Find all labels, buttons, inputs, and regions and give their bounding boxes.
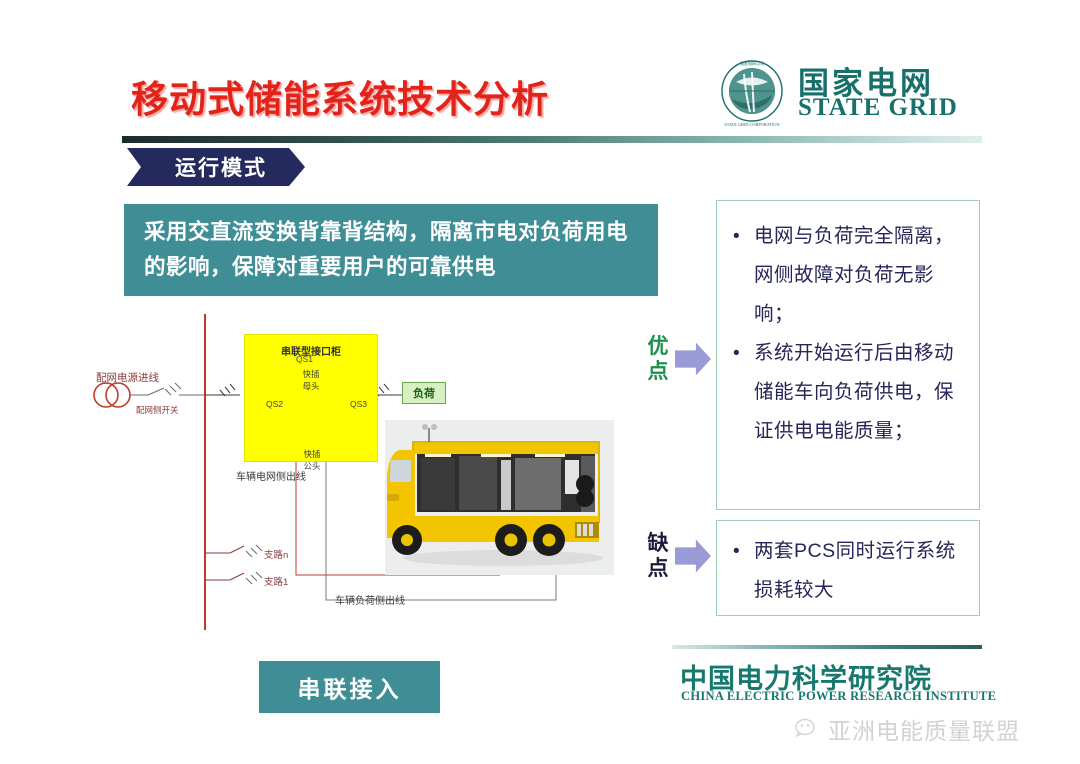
load-node: 负荷	[402, 382, 446, 404]
load-label: 负荷	[413, 385, 435, 401]
list-item: 电网与负荷完全隔离，网侧故障对负荷无影响；	[727, 217, 971, 334]
diagram-caption-label: 串联接入	[298, 670, 402, 704]
label-qs3: QS3	[350, 399, 367, 409]
state-grid-globe-icon: 国家电网公司 STATE GRID CORPORATION	[716, 58, 788, 128]
wechat-icon	[795, 718, 821, 740]
pros-marker: 优点	[645, 334, 711, 384]
label-vehicle-grid-outlet: 车辆电网侧出线	[236, 468, 306, 483]
label-grid-switch: 配网侧开关	[136, 404, 179, 416]
label-female-connector-line2: 母头	[291, 380, 331, 392]
page-title: 移动式储能系统技术分析	[131, 69, 549, 123]
svg-text:国家电网公司: 国家电网公司	[740, 60, 764, 66]
watermark-text: 亚洲电能质量联盟	[828, 712, 1020, 746]
wechat-watermark: 亚洲电能质量联盟	[795, 712, 1020, 746]
slide-header: 移动式储能系统技术分析 国家电网公司 STATE GRID CORPORATIO…	[0, 0, 1080, 145]
header-divider	[122, 136, 982, 143]
footer-divider	[672, 645, 982, 649]
state-grid-logo: 国家电网公司 STATE GRID CORPORATION 国家电网 STATE…	[716, 58, 966, 128]
institute-name-en: CHINA ELECTRIC POWER RESEARCH INSTITUTE	[681, 689, 996, 704]
label-branch-1: 支路1	[264, 574, 288, 588]
label-qs1: QS1	[296, 354, 313, 364]
label-branch-n: 支路n	[264, 547, 288, 561]
list-item: 两套PCS同时运行系统损耗较大	[727, 532, 971, 610]
label-source-line: 配网电源进线	[96, 370, 159, 385]
label-female-connector-line1: 快插	[291, 368, 331, 380]
disadvantages-box: 两套PCS同时运行系统损耗较大	[716, 520, 980, 616]
label-vehicle-load-outlet: 车辆负荷侧出线	[335, 592, 405, 607]
section-banner: 运行模式	[127, 148, 305, 186]
label-male-connector-line1: 快插	[292, 448, 332, 460]
svg-text:STATE GRID CORPORATION: STATE GRID CORPORATION	[724, 122, 779, 127]
mobile-storage-truck-photo	[385, 420, 614, 575]
cons-marker: 缺点	[645, 531, 711, 581]
cons-marker-label: 缺点	[645, 531, 671, 581]
right-arrow-icon	[675, 538, 711, 574]
right-arrow-icon	[675, 341, 711, 377]
advantages-box: 电网与负荷完全隔离，网侧故障对负荷无影响； 系统开始运行后由移动储能车向负荷供电…	[716, 200, 980, 510]
statement-box: 采用交直流变换背靠背结构，隔离市电对负荷用电的影响，保障对重要用户的可靠供电	[124, 204, 658, 296]
slide-canvas: 移动式储能系统技术分析 国家电网公司 STATE GRID CORPORATIO…	[0, 0, 1080, 764]
statement-text: 采用交直流变换背靠背结构，隔离市电对负荷用电的影响，保障对重要用户的可靠供电	[144, 215, 638, 285]
label-qs2: QS2	[266, 399, 283, 409]
section-banner-label: 运行模式	[165, 152, 267, 182]
list-item: 系统开始运行后由移动储能车向负荷供电，保证供电电能质量；	[727, 334, 971, 451]
pros-marker-label: 优点	[645, 334, 671, 384]
logo-name-en: STATE GRID	[798, 94, 958, 122]
diagram-caption: 串联接入	[259, 661, 440, 713]
